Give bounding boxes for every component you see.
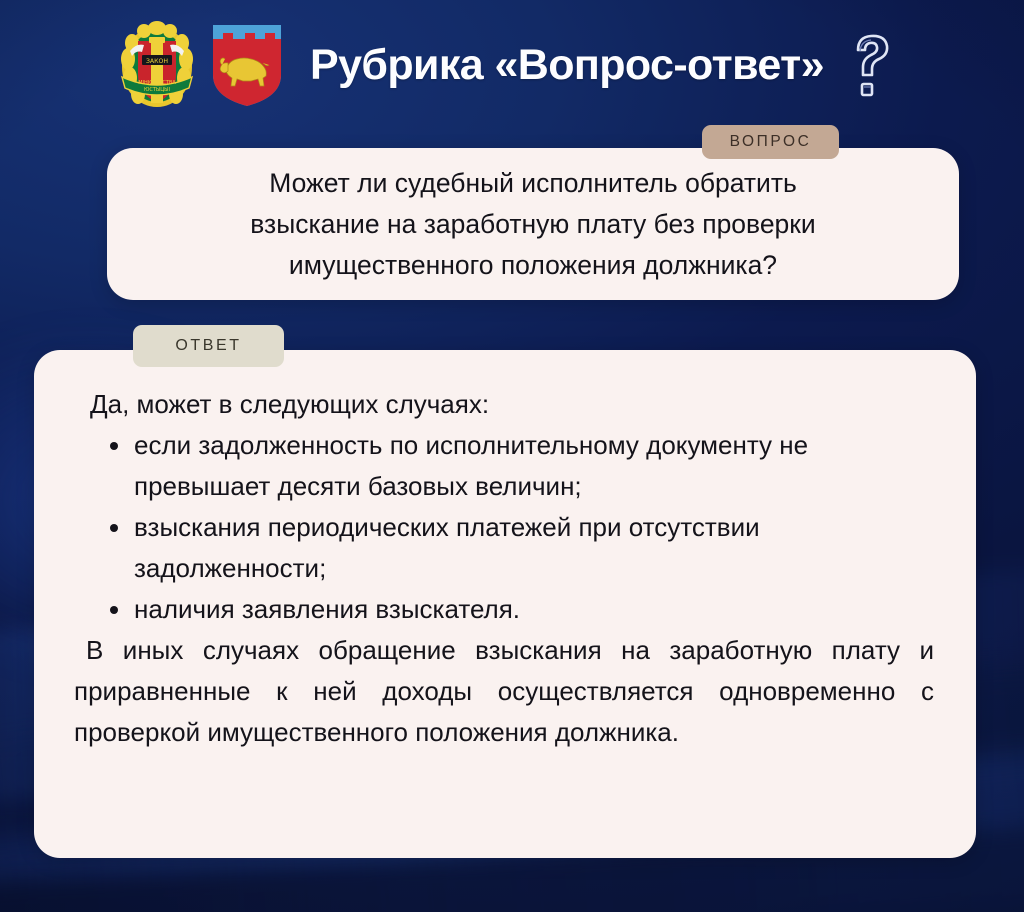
question-card: Может ли судебный исполнитель обратить в… [107,148,959,300]
answer-intro: Да, может в следующих случаях: [74,384,936,425]
status-badge-answer: ОТВЕТ [133,325,284,367]
list-item: наличия заявления взыскателя. [74,589,936,630]
question-line-3: имущественного положения должника? [133,245,933,286]
badge-answer-label: ОТВЕТ [175,337,241,355]
svg-text:ЮСТЫЦЫІ: ЮСТЫЦЫІ [144,87,170,93]
list-item-label: наличия заявления взыскателя. [134,594,520,624]
page-title: Рубрика «Вопрос-ответ» [310,41,824,90]
list-item-label: если задолженность по исполнительному до… [134,430,808,501]
list-item: если задолженность по исполнительному до… [74,425,936,507]
svg-text:МІНІСТЭРСТВА: МІНІСТЭРСТВА [138,80,176,86]
list-item-label: взыскания периодических платежей при отс… [134,512,760,583]
header-bar: ЗАКОН МІНІСТЭРСТВА ЮСТЫЦЫІ Рубрика «Во [0,0,1024,130]
list-item: взыскания периодических платежей при отс… [74,507,936,589]
badge-question-label: ВОПРОС [730,133,812,151]
answer-bullet-list: если задолженность по исполнительному до… [74,425,936,630]
status-badge-question: ВОПРОС [702,125,839,159]
answer-outro: В иных случаях обращение взыскания на за… [74,630,936,753]
answer-card: Да, может в следующих случаях: если задо… [34,350,976,858]
question-line-2: взыскание на заработную плату без провер… [133,204,933,245]
question-line-1: Может ли судебный исполнитель обратить [133,163,933,204]
bullet-icon [110,524,118,532]
emblem-group: ЗАКОН МІНІСТЭРСТВА ЮСТЫЦЫІ [118,21,284,109]
poster-canvas: ЗАКОН МІНІСТЭРСТВА ЮСТЫЦЫІ Рубрика «Во [0,0,1024,912]
bullet-icon [110,606,118,614]
svg-text:ЗАКОН: ЗАКОН [146,58,168,65]
brest-region-coat-of-arms [210,21,284,109]
question-text: Может ли судебный исполнитель обратить в… [107,163,959,286]
bullet-icon [110,442,118,450]
question-mark-icon [848,29,896,101]
ministry-of-justice-belarus-emblem: ЗАКОН МІНІСТЭРСТВА ЮСТЫЦЫІ [118,21,196,109]
